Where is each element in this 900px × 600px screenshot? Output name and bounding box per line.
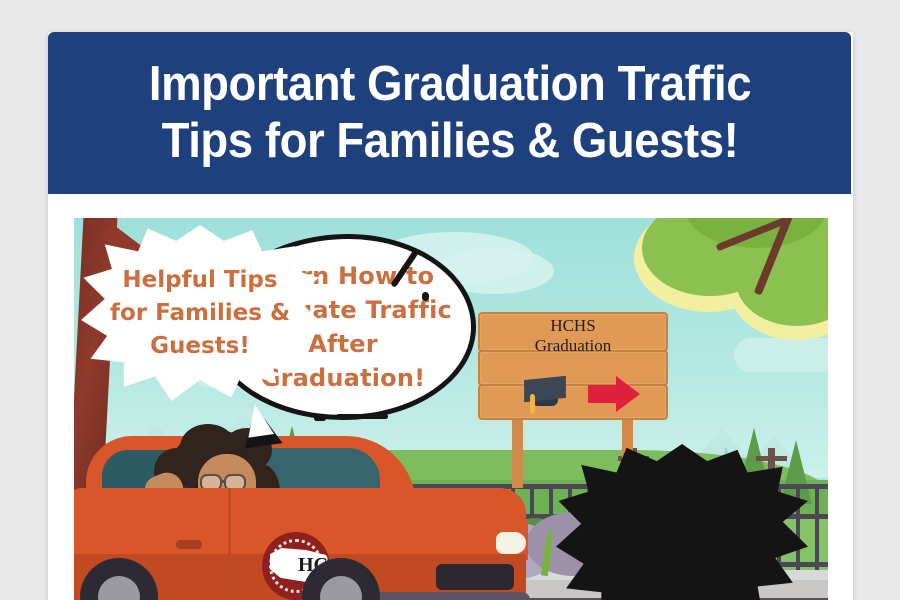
burst-bubble-text: Helpful Tips for Families & Guests! bbox=[84, 264, 316, 363]
cap-tassel bbox=[530, 394, 535, 414]
wooden-graduation-sign: HCHS Graduation bbox=[478, 310, 668, 428]
car-bumper bbox=[366, 592, 530, 600]
sign-text-line-1: HCHS bbox=[478, 316, 668, 336]
wheel-rim bbox=[98, 576, 140, 600]
burst-bubble-line-1: Helpful Tips bbox=[110, 264, 290, 297]
arrow-head bbox=[616, 376, 640, 412]
page-title: Important Graduation Traffic Tips for Fa… bbox=[96, 56, 803, 170]
page-root: Important Graduation Traffic Tips for Fa… bbox=[0, 0, 900, 600]
graduation-traffic-illustration: HCHS Graduation bbox=[74, 218, 828, 600]
orange-car: HC bbox=[74, 436, 536, 600]
bubble-highlight bbox=[336, 414, 388, 419]
burst-bubble-line-2: for Families & bbox=[110, 297, 290, 330]
bubble-highlight-dot bbox=[422, 292, 429, 301]
bubble-highlight-dot bbox=[314, 416, 326, 421]
article-card: Important Graduation Traffic Tips for Fa… bbox=[48, 32, 853, 600]
burst-bubble-line-3: Guests! bbox=[110, 330, 290, 363]
car-headlight bbox=[496, 532, 526, 554]
graduation-cap-icon bbox=[524, 372, 566, 414]
sign-text: HCHS Graduation bbox=[478, 316, 668, 356]
cloud-shape bbox=[734, 338, 828, 372]
speech-bubble-tail-fill bbox=[244, 402, 274, 437]
page-header-banner: Important Graduation Traffic Tips for Fa… bbox=[48, 32, 851, 194]
car-side-mirror bbox=[354, 500, 380, 516]
car-door-handle bbox=[176, 540, 202, 549]
utility-pole-arm bbox=[756, 456, 787, 461]
page-title-line-1: Important Graduation Traffic bbox=[96, 56, 803, 113]
car-door-seam bbox=[228, 488, 231, 598]
page-title-line-2: Tips for Families & Guests! bbox=[96, 113, 803, 170]
right-arrow-icon bbox=[588, 376, 642, 412]
car-grille bbox=[436, 564, 514, 590]
wheel-rim bbox=[320, 576, 362, 600]
glasses-bridge bbox=[221, 480, 226, 483]
sign-text-line-2: Graduation bbox=[478, 336, 668, 356]
